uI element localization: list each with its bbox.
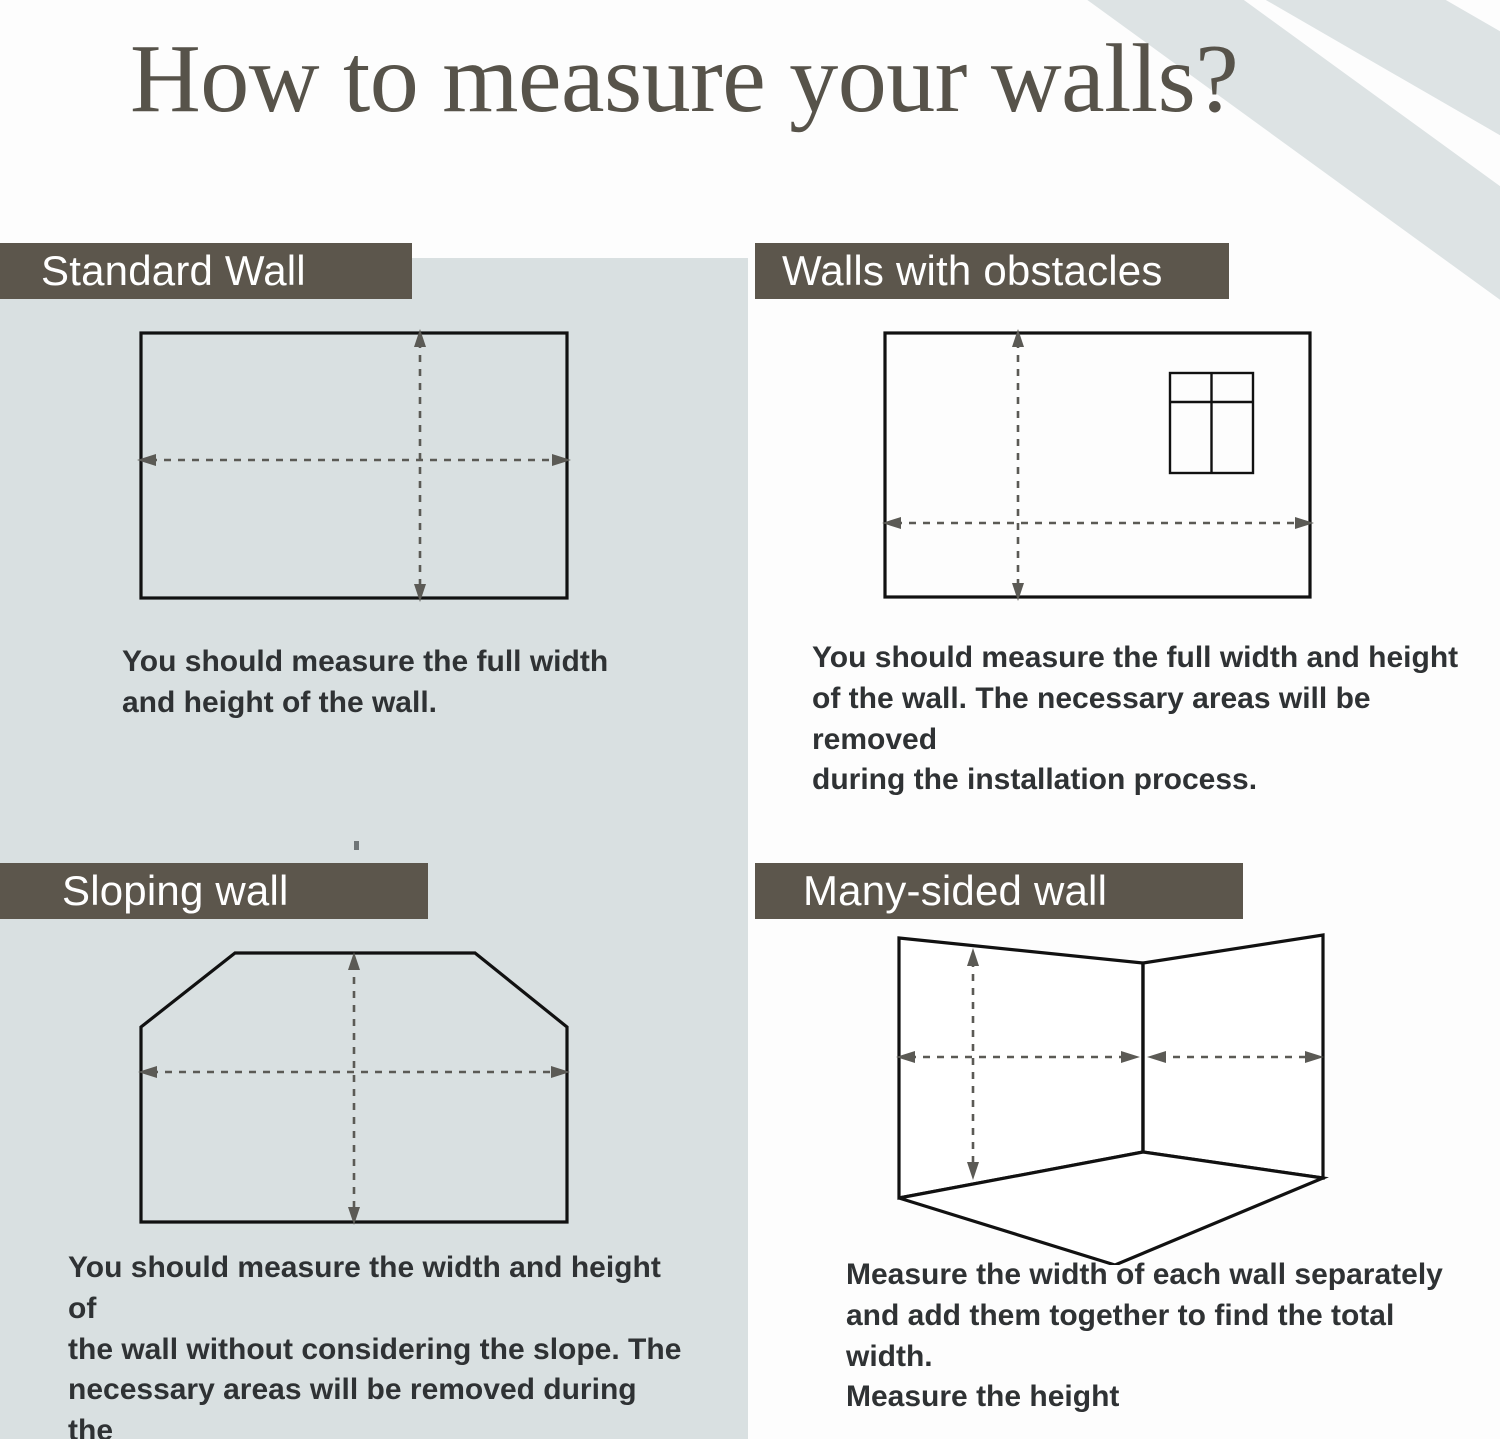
diagram-many-sided-wall: [875, 920, 1345, 1265]
diagram-walls-with-obstacles: [865, 315, 1335, 615]
caption-many-sided-wall: Measure the width of each wall separatel…: [846, 1255, 1466, 1418]
diagram-sloping-wall: [120, 935, 590, 1240]
window-obstacle-icon: [1170, 373, 1253, 473]
section-header-label: Many-sided wall: [803, 867, 1107, 915]
section-header-label: Standard Wall: [41, 247, 306, 295]
image-artifact-speck: [354, 841, 359, 850]
infographic-page: How to measure your walls? Standard Wall…: [0, 0, 1500, 1439]
section-header-label: Walls with obstacles: [782, 247, 1163, 295]
section-header-standard-wall: Standard Wall: [0, 243, 412, 299]
section-header-sloping-wall: Sloping wall: [0, 863, 428, 919]
caption-walls-with-obstacles: You should measure the full width and he…: [812, 638, 1472, 801]
caption-standard-wall: You should measure the full width and he…: [122, 642, 642, 724]
diagram-standard-wall: [120, 315, 590, 615]
page-title: How to measure your walls?: [130, 28, 1238, 131]
section-header-walls-with-obstacles: Walls with obstacles: [755, 243, 1229, 299]
wall-outline-rect: [141, 333, 567, 598]
height-arrow-head-top: [348, 952, 360, 970]
section-header-label: Sloping wall: [62, 867, 289, 915]
caption-sloping-wall: You should measure the width and height …: [68, 1248, 688, 1439]
section-header-many-sided-wall: Many-sided wall: [755, 863, 1243, 919]
